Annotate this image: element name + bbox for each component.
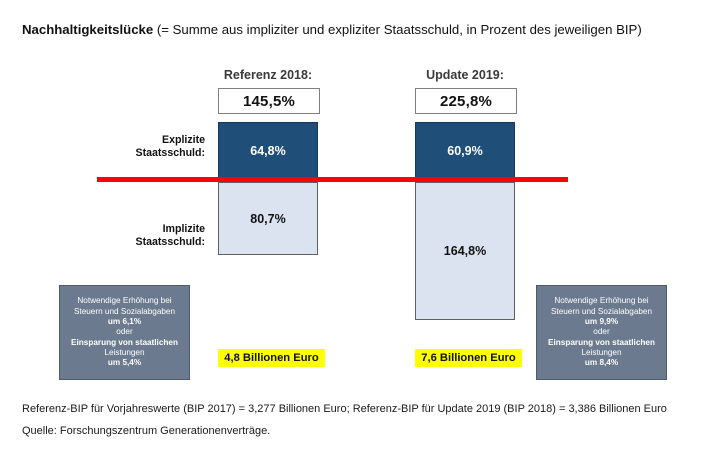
label-implizite-staatsschuld: Implizite Staatsschuld: xyxy=(70,223,205,248)
note-left-line7: um 5,4% xyxy=(108,358,141,368)
bar-explicit-referenz-2018: 64,8% xyxy=(218,122,318,179)
note-right-line6: Leistungen xyxy=(581,348,621,358)
note-left-line3: um 6,1% xyxy=(108,317,141,327)
page-title-rest: (= Summe aus impliziter und expliziter S… xyxy=(153,22,642,37)
zero-reference-line xyxy=(97,177,568,182)
footnote-source: Quelle: Forschungszentrum Generationenve… xyxy=(22,425,270,437)
label-explizite-staatsschuld: Explizite Staatsschuld: xyxy=(70,134,205,159)
label-implizite-line1: Implizite xyxy=(163,223,205,235)
column-header-referenz-2018: Referenz 2018: xyxy=(218,68,318,82)
note-box-update-2019: Notwendige Erhöhung bei Steuern und Sozi… xyxy=(536,285,667,380)
column-header-update-2019: Update 2019: xyxy=(415,68,515,82)
note-right-line5: Einsparung von staatlichen xyxy=(548,338,655,348)
note-right-line2: Steuern und Sozialabgaben xyxy=(551,307,652,317)
page-title: Nachhaltigkeitslücke (= Summe aus impliz… xyxy=(22,22,722,38)
note-left-line2: Steuern und Sozialabgaben xyxy=(74,307,175,317)
total-box-update-2019: 225,8% xyxy=(415,88,517,114)
note-right-line7: um 8,4% xyxy=(585,358,618,368)
page-title-bold: Nachhaltigkeitslücke xyxy=(22,22,153,37)
note-right-line4: oder xyxy=(593,327,609,337)
bar-implicit-update-2019: 164,8% xyxy=(415,182,515,320)
note-left-line4: oder xyxy=(116,327,132,337)
bar-explicit-update-2019: 60,9% xyxy=(415,122,515,179)
note-right-line3: um 9,9% xyxy=(585,317,618,327)
note-left-line5: Einsparung von staatlichen xyxy=(71,338,178,348)
note-left-line1: Notwendige Erhöhung bei xyxy=(77,296,171,306)
bar-implicit-referenz-2018: 80,7% xyxy=(218,182,318,255)
euro-highlight-update-2019: 7,6 Billionen Euro xyxy=(415,349,522,367)
note-left-line6: Leistungen xyxy=(104,348,144,358)
note-right-line1: Notwendige Erhöhung bei xyxy=(554,296,648,306)
footnote-reference-gdp: Referenz-BIP für Vorjahreswerte (BIP 201… xyxy=(22,403,667,415)
label-implizite-line2: Staatsschuld: xyxy=(136,236,205,248)
chart-container: Nachhaltigkeitslücke (= Summe aus impliz… xyxy=(0,0,728,456)
label-explizite-line1: Explizite xyxy=(162,134,205,146)
label-explizite-line2: Staatsschuld: xyxy=(136,147,205,159)
euro-highlight-referenz-2018: 4,8 Billionen Euro xyxy=(218,349,325,367)
note-box-referenz-2018: Notwendige Erhöhung bei Steuern und Sozi… xyxy=(59,285,190,380)
total-box-referenz-2018: 145,5% xyxy=(218,88,320,114)
